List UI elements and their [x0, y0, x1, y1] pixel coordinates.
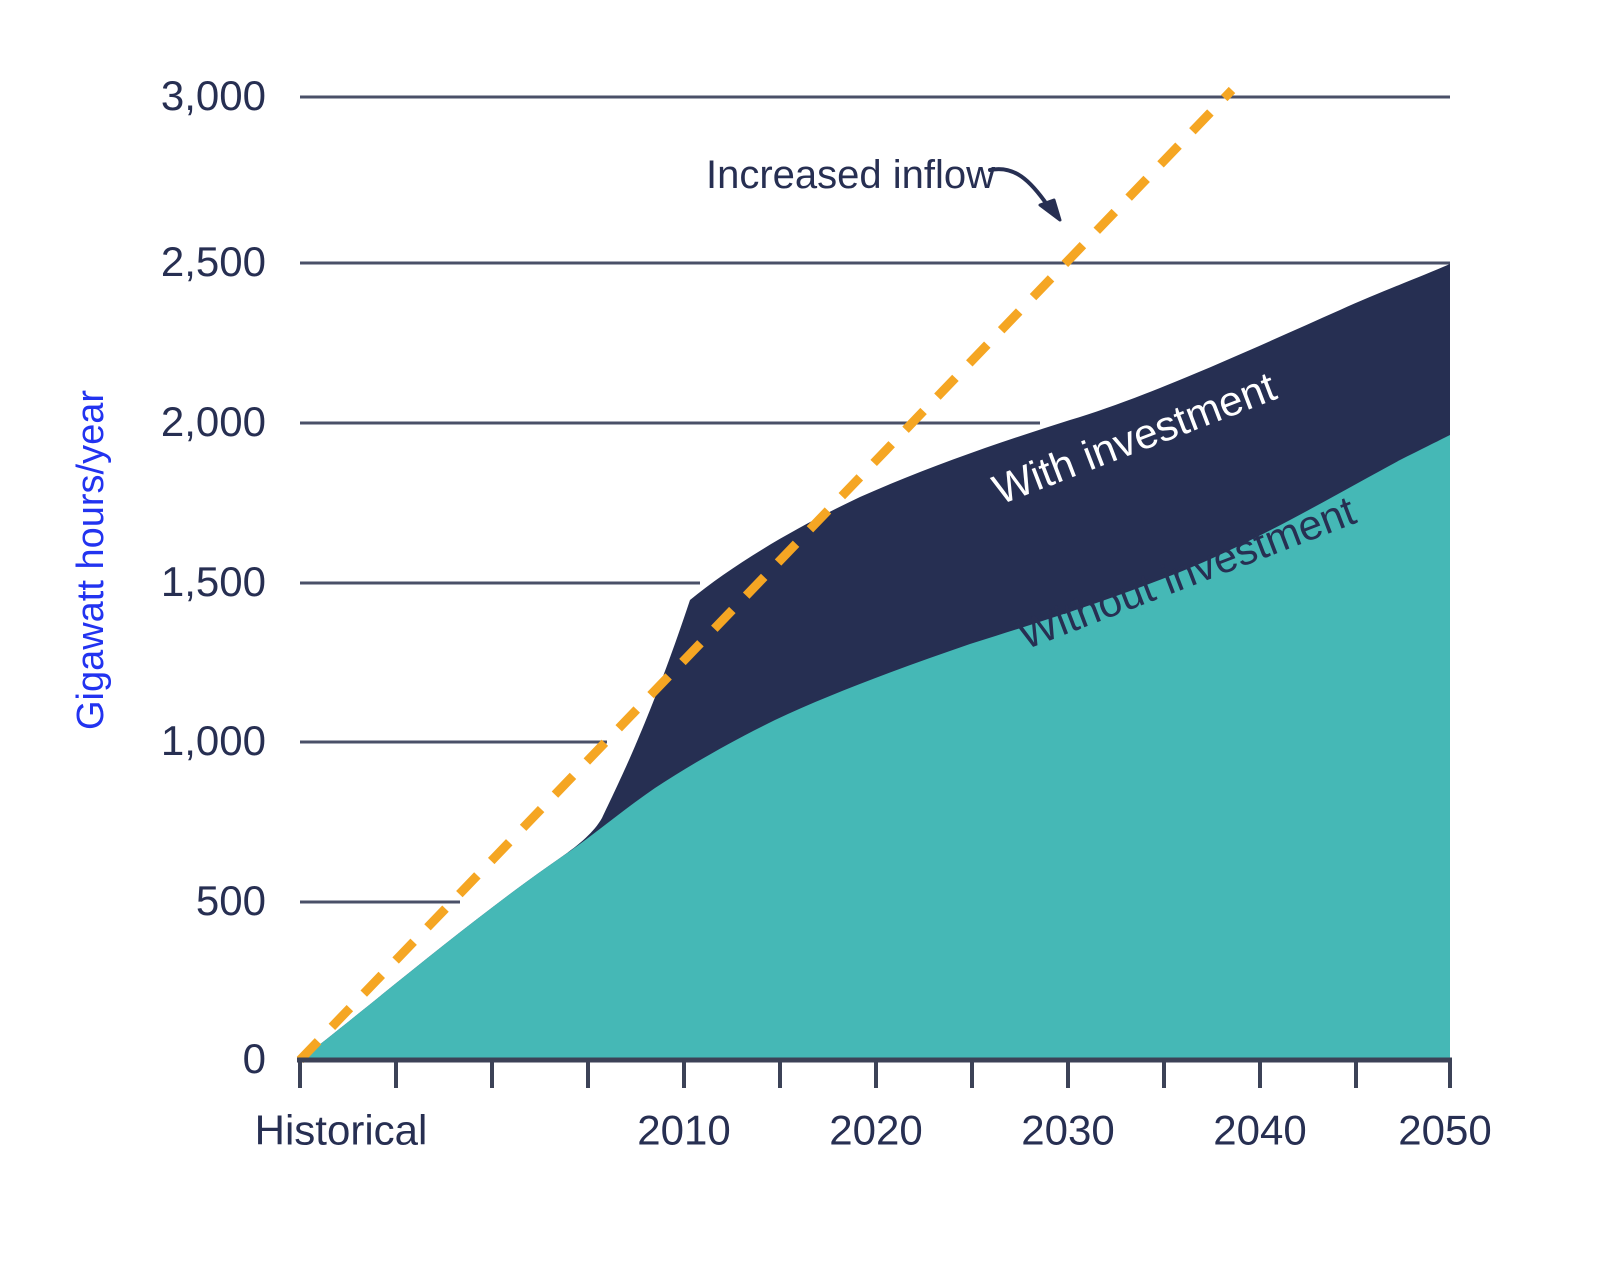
y-tick-label: 1,000 [161, 717, 266, 764]
x-tick-label-2010: 2010 [637, 1106, 730, 1153]
annotation-increased-inflow-label: Increased inflow [706, 153, 995, 197]
y-tick-label: 500 [196, 877, 266, 924]
x-tick-label-2030: 2030 [1021, 1106, 1114, 1153]
x-tick-label-2050: 2050 [1398, 1106, 1491, 1153]
y-tick-label: 2,000 [161, 398, 266, 445]
chart-figure: 3,000 2,500 2,000 1,500 1,000 500 0 Hist… [0, 0, 1600, 1270]
y-tick-label: 1,500 [161, 558, 266, 605]
y-tick-label: 0 [243, 1035, 266, 1082]
y-tick-label: 2,500 [161, 238, 266, 285]
y-axis-title: Gigawatt hours/year [70, 390, 112, 730]
area-chart: 3,000 2,500 2,000 1,500 1,000 500 0 Hist… [0, 0, 1600, 1270]
x-tick-label-2020: 2020 [829, 1106, 922, 1153]
x-tick-label-2040: 2040 [1213, 1106, 1306, 1153]
y-tick-label: 3,000 [161, 72, 266, 119]
x-tick-label-historical: Historical [255, 1106, 428, 1153]
